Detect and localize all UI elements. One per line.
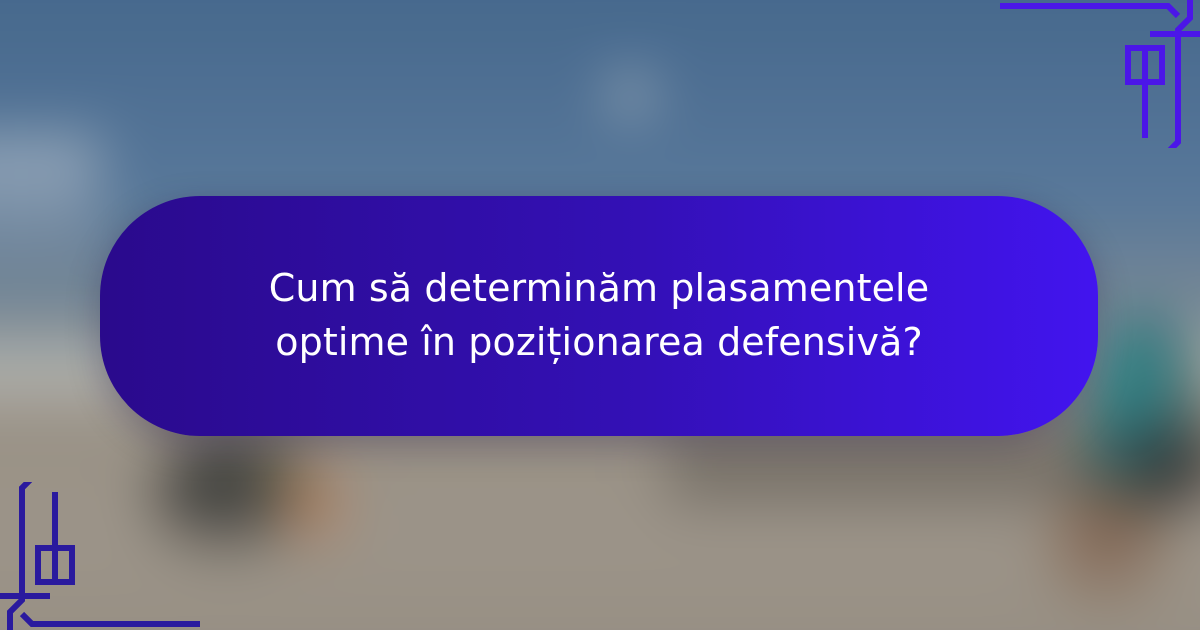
ornament-bottom-rail <box>22 614 200 624</box>
ornament-top-rail <box>1000 6 1178 16</box>
social-card-canvas: Cum să determinăm plasamentele optime în… <box>0 0 1200 630</box>
sun-glare-blob <box>607 67 656 126</box>
volleyball-net-post <box>0 134 101 261</box>
headline-card: Cum să determinăm plasamentele optime în… <box>100 196 1098 436</box>
player-right-leg <box>1048 481 1175 608</box>
corner-ornament-bottom-left <box>0 482 200 630</box>
ornament-left-rail <box>10 482 30 630</box>
ornament-right-rail <box>1170 0 1190 148</box>
headline-text: Cum să determinăm plasamentele optime în… <box>137 262 1061 370</box>
corner-ornament-top-right <box>1000 0 1200 148</box>
player-left-arm <box>274 466 348 551</box>
